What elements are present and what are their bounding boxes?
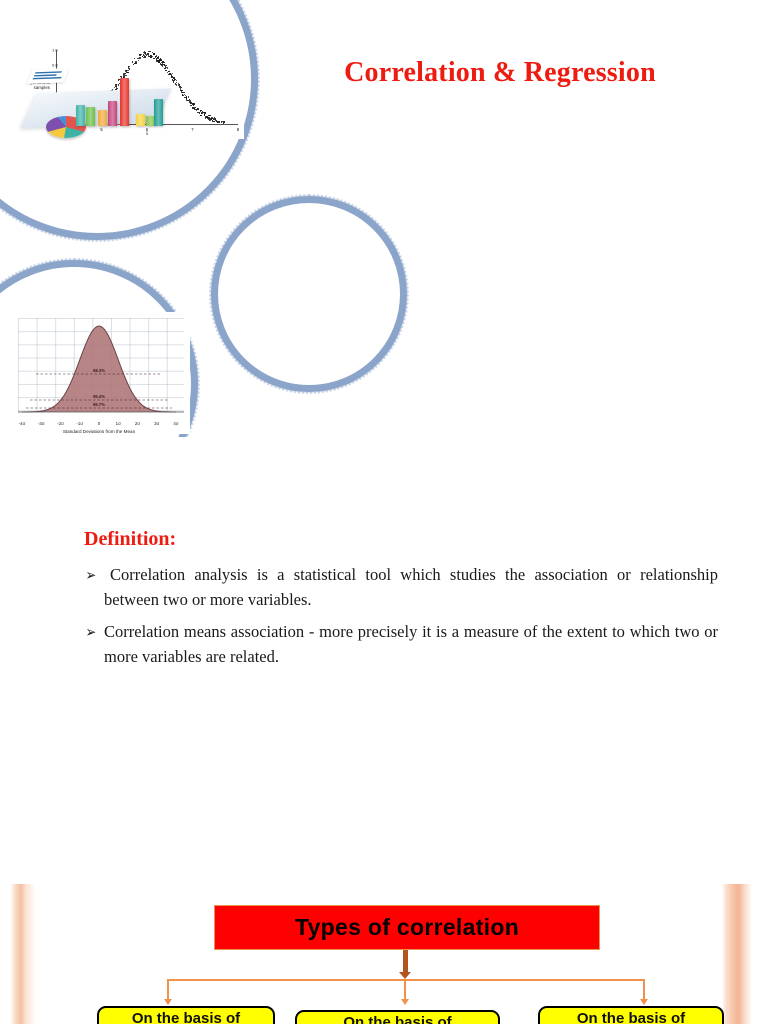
- bar-3d: [120, 78, 129, 126]
- bell-curve-image: 68.3%95.4%99.7% -4σ-3σ-2σ-1σ01σ2σ3σ4σ St…: [8, 312, 190, 434]
- bell-x-tick: -3σ: [38, 421, 45, 426]
- scatter-point: [197, 112, 198, 113]
- scatter-point: [176, 85, 177, 86]
- bar-3d: [98, 110, 107, 126]
- document-card: [27, 68, 70, 84]
- scatter-point: [184, 92, 185, 93]
- definition-item-text: Correlation means association - more pre…: [104, 620, 718, 669]
- definition-heading: Definition:: [84, 528, 718, 551]
- definition-item-text: Correlation analysis is a statistical to…: [104, 563, 718, 612]
- scatter-point: [204, 114, 205, 115]
- bell-x-tick: 3σ: [154, 421, 159, 426]
- bell-x-tick: 1σ: [116, 421, 121, 426]
- bar-3d: [154, 99, 163, 126]
- bell-x-tick: -2σ: [57, 421, 64, 426]
- type-box-center[interactable]: On the basis of: [295, 1010, 500, 1024]
- scatter-point: [210, 120, 211, 121]
- scatter-point: [199, 112, 200, 113]
- bell-curve-svg: [8, 312, 190, 434]
- definition-item: ➢ Correlation analysis is a statistical …: [84, 563, 718, 612]
- scatter-x-tick: 8: [237, 127, 239, 132]
- bar-3d: [86, 107, 95, 126]
- scatter-point: [185, 95, 186, 96]
- connector-stem: [403, 950, 408, 972]
- scatter-x-tick: 7: [191, 127, 193, 132]
- bell-x-tick: -4σ: [19, 421, 26, 426]
- definition-block: Definition: ➢ Correlation analysis is a …: [84, 528, 718, 677]
- scatter-point: [186, 98, 187, 99]
- scatter-point: [188, 97, 189, 98]
- definition-item: ➢ Correlation means association - more p…: [84, 620, 718, 669]
- bell-x-tick: 2σ: [135, 421, 140, 426]
- scatter-point: [206, 116, 207, 117]
- type-box-right[interactable]: On the basis of: [538, 1006, 724, 1024]
- circle-frame-bar-chart: [211, 196, 407, 392]
- scatter-point: [193, 103, 194, 104]
- decorative-stripe-right: [722, 884, 752, 1024]
- connector-horizontal-bar: [167, 979, 644, 981]
- scatter-point: [190, 105, 191, 106]
- bar-chart-illustration: [24, 44, 176, 148]
- bell-band-label: 68.3%: [93, 368, 105, 373]
- bell-x-tick: -1σ: [76, 421, 83, 426]
- scatter-point: [200, 115, 201, 116]
- bar-3d: [108, 101, 117, 126]
- bell-x-axis-label: Standard Deviations from the Mean: [8, 429, 190, 434]
- connector-drop-center: [404, 979, 406, 999]
- scatter-point: [215, 119, 216, 120]
- slide-root: percent of samples 0.00.20.40.60.81.0 45…: [0, 0, 768, 1024]
- decorative-stripe-left: [10, 884, 36, 1024]
- bell-band-label: 99.7%: [93, 402, 105, 407]
- scatter-point: [196, 110, 197, 111]
- arrow-bullet-icon: ➢: [86, 563, 103, 587]
- connector-drop-right: [643, 979, 645, 999]
- type-box-left[interactable]: On the basis of: [97, 1006, 275, 1024]
- types-title-box: Types of correlation: [214, 905, 600, 950]
- arrow-bullet-icon: ➢: [86, 620, 103, 644]
- bell-x-tick: 0: [98, 421, 100, 426]
- type-box-center-label: On the basis of: [343, 1014, 451, 1024]
- scatter-point: [208, 115, 209, 116]
- type-box-left-label: On the basis of: [132, 1010, 240, 1024]
- bar-3d: [136, 114, 145, 126]
- connector-drop-left: [167, 979, 169, 999]
- types-title-label: Types of correlation: [295, 914, 519, 941]
- scatter-point: [217, 121, 218, 122]
- scatter-point: [223, 121, 224, 122]
- types-of-correlation-diagram: Types of correlation On the basis of On …: [0, 884, 768, 1024]
- scatter-point: [182, 92, 183, 93]
- scatter-point: [192, 107, 193, 108]
- scatter-point: [200, 110, 201, 111]
- scatter-point: [190, 100, 191, 101]
- bell-x-tick: 4σ: [173, 421, 178, 426]
- bar-3d: [76, 105, 85, 126]
- bell-band-label: 95.4%: [93, 394, 105, 399]
- type-box-right-label: On the basis of: [577, 1010, 685, 1024]
- page-title: Correlation & Regression: [300, 57, 700, 89]
